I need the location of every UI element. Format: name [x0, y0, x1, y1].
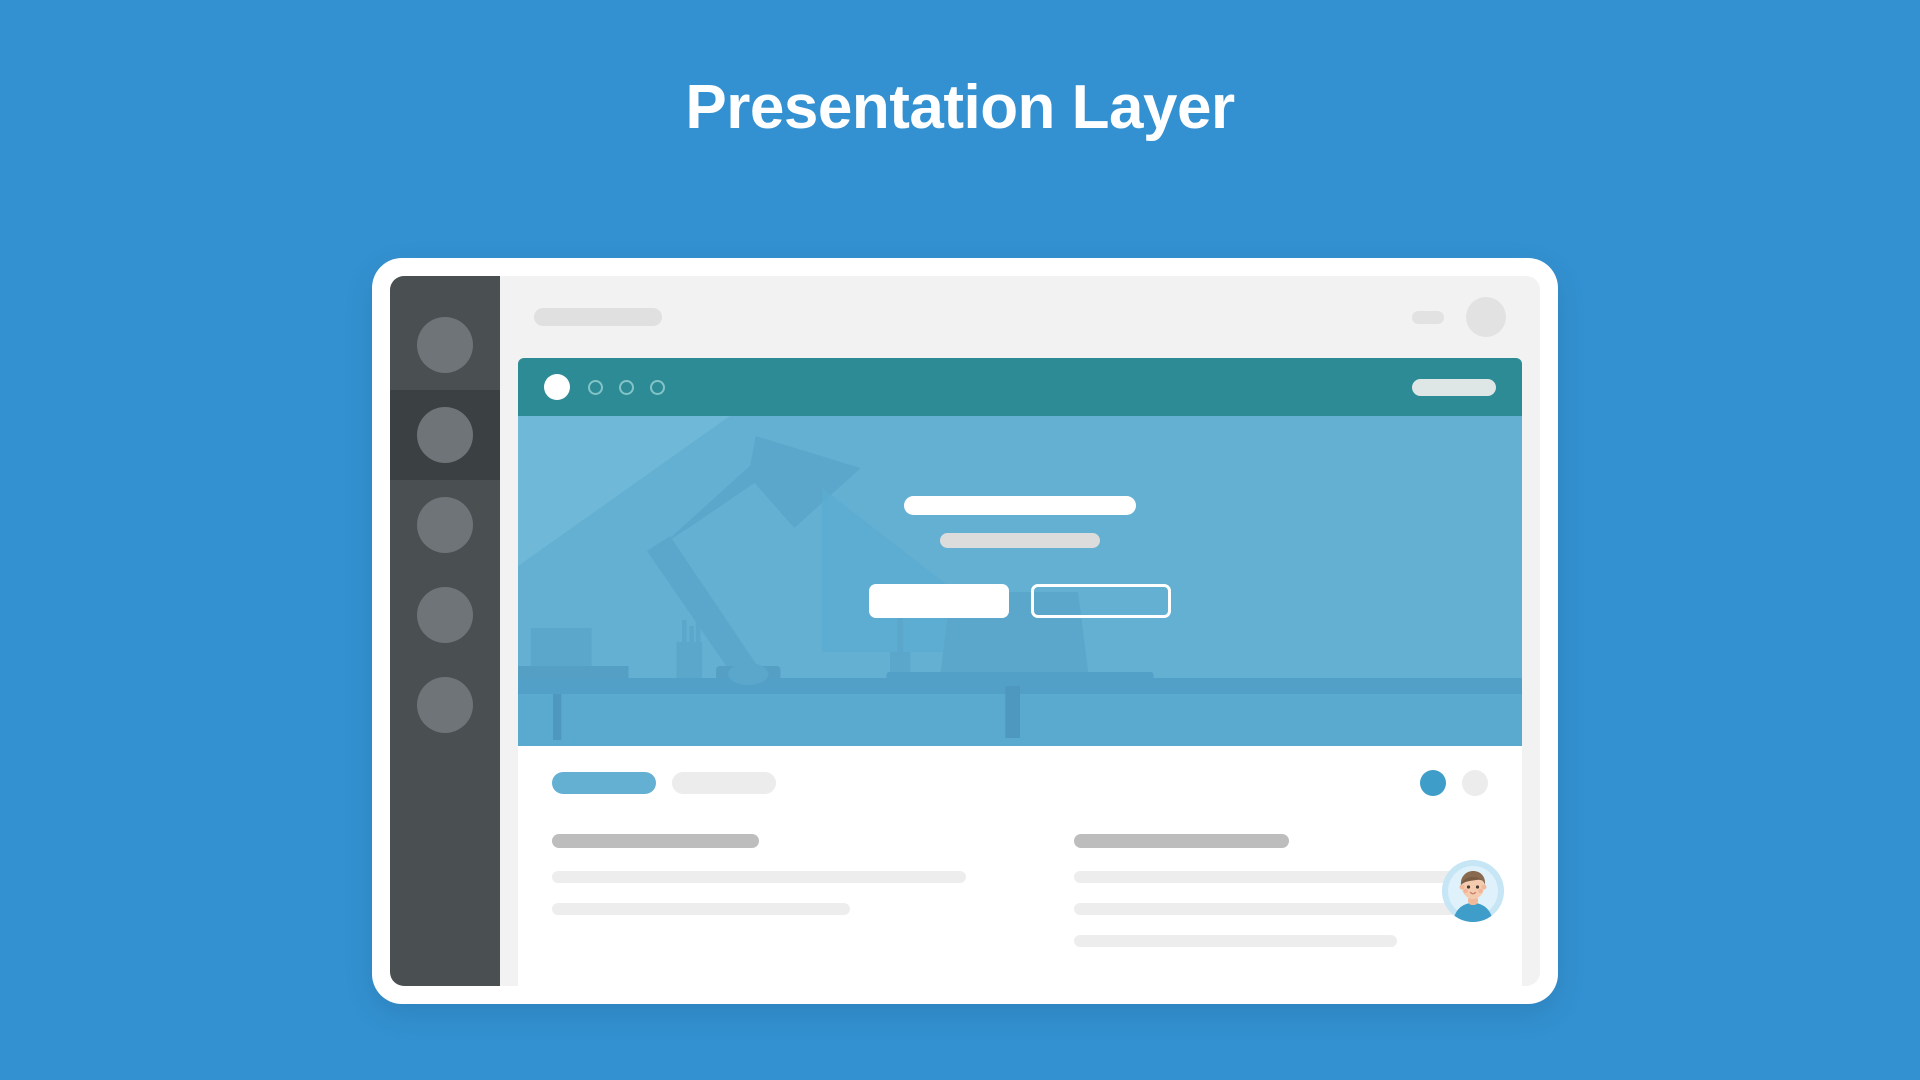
chrome-dot-hollow-icon[interactable] — [619, 380, 634, 395]
app-content-pane — [500, 276, 1540, 986]
page-title: Presentation Layer — [0, 72, 1920, 143]
topbar-menu-placeholder[interactable] — [1412, 311, 1444, 324]
sidebar-item-5[interactable] — [390, 660, 500, 750]
app-sidebar — [390, 276, 500, 986]
hero-section — [518, 416, 1522, 746]
nav-circle-icon — [417, 677, 473, 733]
nav-circle-icon — [417, 317, 473, 373]
tab-row — [552, 770, 1488, 796]
site-body — [518, 746, 1522, 986]
column-heading-placeholder — [1074, 834, 1289, 848]
topbar-avatar[interactable] — [1466, 297, 1506, 337]
app-topbar — [500, 276, 1540, 358]
chrome-dot-hollow-icon[interactable] — [588, 380, 603, 395]
content-columns — [552, 834, 1488, 967]
page-dot-1[interactable] — [1420, 770, 1446, 796]
column-line-placeholder — [552, 871, 966, 883]
chrome-dot-filled-icon[interactable] — [544, 374, 570, 400]
content-column-right — [1074, 834, 1488, 967]
column-line-placeholder — [1074, 935, 1397, 947]
content-column-left — [552, 834, 966, 967]
sidebar-item-3[interactable] — [390, 480, 500, 570]
chrome-address-pill[interactable] — [1412, 379, 1496, 396]
column-line-placeholder — [552, 903, 850, 915]
app-logo-placeholder — [534, 308, 662, 326]
column-line-placeholder — [1074, 871, 1488, 883]
page-dot-2[interactable] — [1462, 770, 1488, 796]
sidebar-item-1[interactable] — [390, 300, 500, 390]
sidebar-item-2[interactable] — [390, 390, 500, 480]
hero-button-group — [869, 584, 1171, 618]
nav-circle-icon — [417, 587, 473, 643]
browser-chrome-bar — [518, 358, 1522, 416]
hero-copy-block — [518, 496, 1522, 618]
column-line-placeholder — [1074, 903, 1488, 915]
sidebar-item-4[interactable] — [390, 570, 500, 660]
column-heading-placeholder — [552, 834, 759, 848]
tab-1[interactable] — [552, 772, 656, 794]
tab-2[interactable] — [672, 772, 776, 794]
website-preview-card — [518, 358, 1522, 986]
tablet-device-frame — [372, 258, 1558, 1004]
tablet-screen — [390, 276, 1540, 986]
hero-secondary-button[interactable] — [1031, 584, 1171, 618]
nav-circle-icon — [417, 497, 473, 553]
avatar-illustration — [1442, 860, 1504, 922]
support-agent-avatar[interactable] — [1442, 860, 1504, 922]
hero-headline-placeholder — [904, 496, 1136, 515]
hero-primary-button[interactable] — [869, 584, 1009, 618]
hero-subline-placeholder — [940, 533, 1100, 548]
nav-circle-icon — [417, 407, 473, 463]
chrome-dot-hollow-icon[interactable] — [650, 380, 665, 395]
